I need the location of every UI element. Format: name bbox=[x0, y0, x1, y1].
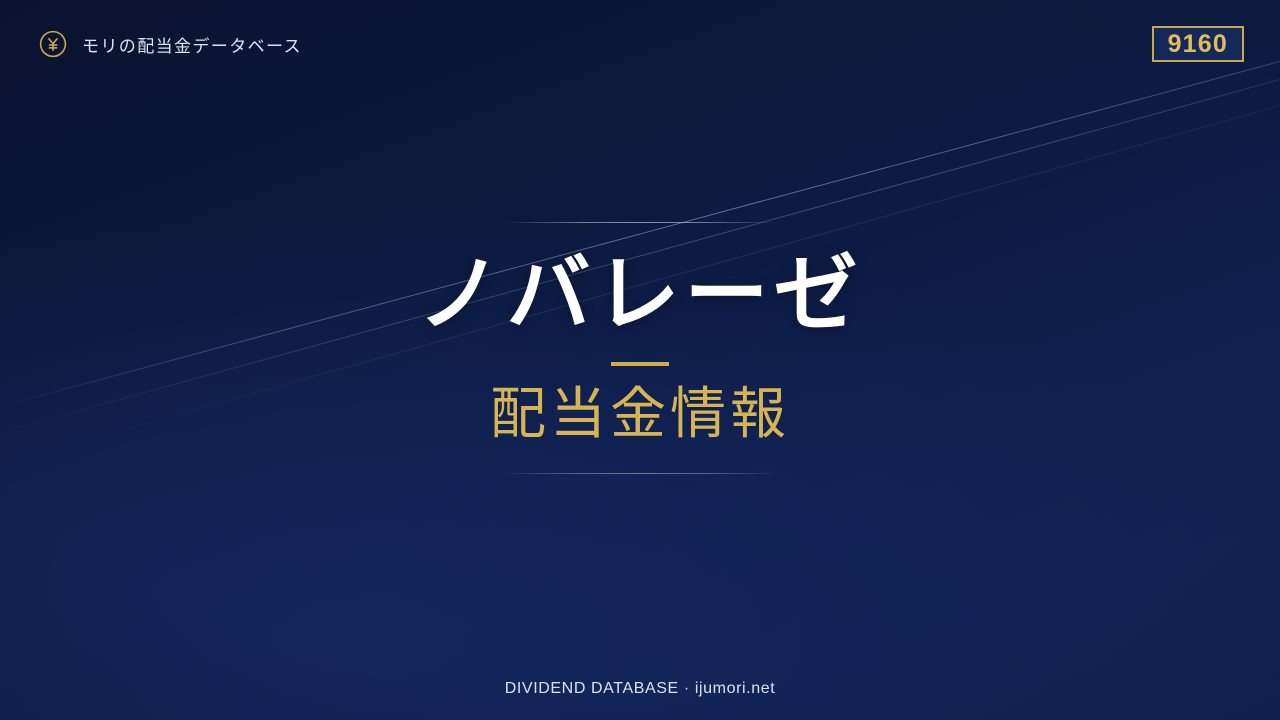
brand[interactable]: モリの配当金データベース bbox=[38, 29, 302, 59]
page-subtitle: 配当金情報 bbox=[490, 380, 790, 447]
ticker-code-badge[interactable]: 9160 bbox=[1152, 26, 1244, 62]
yen-coin-icon bbox=[38, 29, 68, 59]
hero-bottom-rule bbox=[501, 473, 779, 474]
footer-attribution: DIVIDEND DATABASE · ijumori.net bbox=[505, 680, 776, 698]
hero-section: ノバレーゼ 配当金情報 bbox=[0, 0, 1280, 720]
hero-top-rule bbox=[504, 222, 776, 223]
site-footer: DIVIDEND DATABASE · ijumori.net bbox=[0, 658, 1280, 720]
company-name-title: ノバレーゼ bbox=[417, 249, 862, 340]
site-header: モリの配当金データベース 9160 bbox=[0, 0, 1280, 88]
gold-divider bbox=[611, 362, 669, 366]
slide-canvas: モリの配当金データベース 9160 ノバレーゼ 配当金情報 DIVIDEND D… bbox=[0, 0, 1280, 720]
brand-name: モリの配当金データベース bbox=[82, 32, 302, 57]
